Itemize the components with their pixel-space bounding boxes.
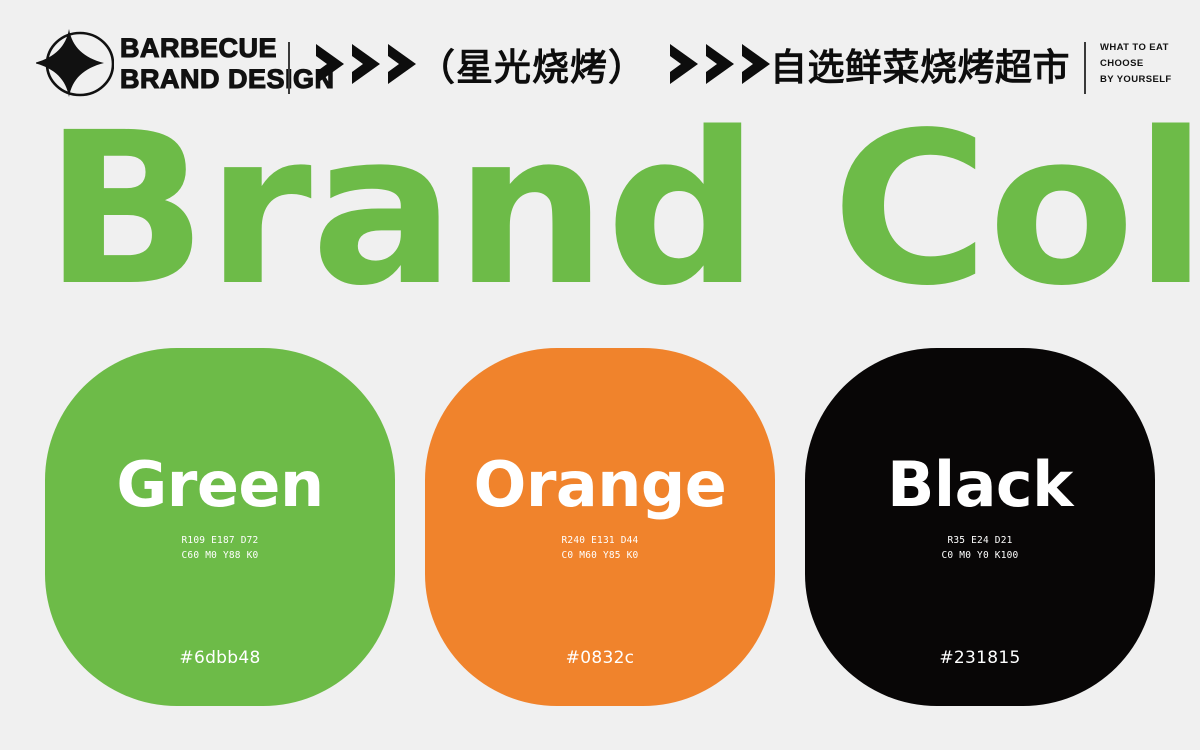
swatch-cmyk-code: C60 M0 Y88 K0: [45, 549, 395, 564]
swatch-color-codes: R240 E131 D44 C0 M60 Y85 K0: [425, 534, 775, 563]
swatch-color-codes: R109 E187 D72 C60 M0 Y88 K0: [45, 534, 395, 563]
chevron-right-icon: [668, 42, 702, 86]
color-swatch-green[interactable]: Green R109 E187 D72 C60 M0 Y88 K0 #6dbb4…: [45, 348, 395, 706]
swatch-color-codes: R35 E24 D21 C0 M0 Y0 K100: [805, 534, 1155, 563]
swatch-rgb-code: R109 E187 D72: [45, 534, 395, 549]
swatch-rgb-code: R35 E24 D21: [805, 534, 1155, 549]
page-title: Brand Color: [44, 112, 1197, 307]
chevron-right-icon: [386, 42, 420, 86]
swatch-name: Black: [805, 454, 1155, 516]
swatch-hex-code: #0832c: [425, 648, 775, 668]
swatch-name: Orange: [425, 454, 775, 516]
swatch-cmyk-code: C0 M60 Y85 K0: [425, 549, 775, 564]
color-swatch-row: Green R109 E187 D72 C60 M0 Y88 K0 #6dbb4…: [45, 348, 1155, 706]
color-swatch-orange[interactable]: Orange R240 E131 D44 C0 M60 Y85 K0 #0832…: [425, 348, 775, 706]
tagline-line-1: WHAT TO EAT: [1100, 40, 1172, 56]
swatch-hex-code: #231815: [805, 648, 1155, 668]
swatch-hex-code: #6dbb48: [45, 648, 395, 668]
logo-wordmark: BARBECUE BRAND DESIGN: [120, 35, 335, 93]
swatch-cmyk-code: C0 M0 Y0 K100: [805, 549, 1155, 564]
tagline-line-2: CHOOSE: [1100, 56, 1172, 72]
chevron-right-icon: [740, 42, 774, 86]
logo-line-1: BARBECUE: [120, 35, 335, 62]
chevron-right-icon: [314, 42, 348, 86]
chevron-right-icon: [350, 42, 384, 86]
color-swatch-black[interactable]: Black R35 E24 D21 C0 M0 Y0 K100 #231815: [805, 348, 1155, 706]
swatch-rgb-code: R240 E131 D44: [425, 534, 775, 549]
swatch-name: Green: [45, 454, 395, 516]
chevron-right-icon: [704, 42, 738, 86]
brand-color-page: BARBECUE BRAND DESIGN （星光烧烤） 自选鲜菜烧烤超市 WH…: [0, 0, 1200, 750]
